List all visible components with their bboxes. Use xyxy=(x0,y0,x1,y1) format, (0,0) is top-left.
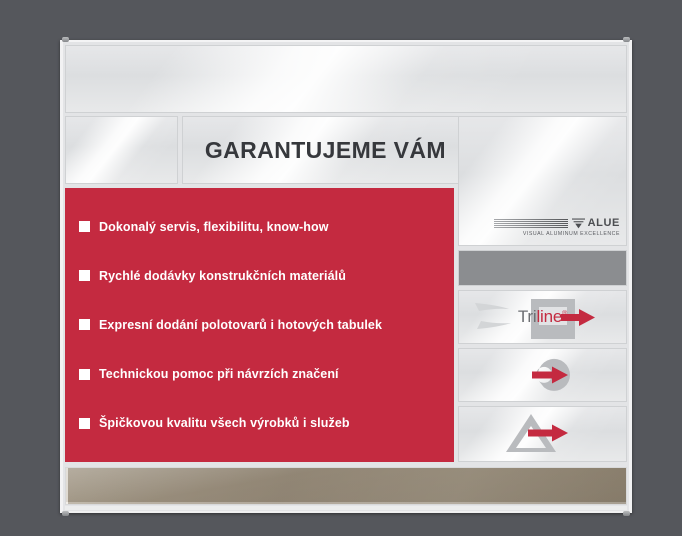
header-blank-panel xyxy=(65,45,627,113)
triangle-arrow-logo xyxy=(459,407,626,461)
page-title: GARANTUJEME VÁM xyxy=(205,137,458,164)
square-bullet-icon xyxy=(79,319,90,330)
list-item-label: Špičkovou kvalitu všech výrobků i služeb xyxy=(99,416,350,430)
list-item: Rychlé dodávky konstrukčních materiálů xyxy=(79,269,446,283)
square-bullet-icon xyxy=(79,369,90,380)
list-item: Expresní dodání polotovarů i hotových ta… xyxy=(79,318,446,332)
list-item: Špičkovou kvalitu všech výrobků i služeb xyxy=(79,416,446,430)
bullet-list: Dokonalý servis, flexibilitu, know-how R… xyxy=(79,188,446,462)
triangle-arrow-logo-graphic-icon xyxy=(498,409,588,459)
brand-wordmark-row: ALUE xyxy=(494,217,620,229)
brand-tagline: VISUAL ALUMINUM EXCELLENCE xyxy=(494,231,620,237)
red-feature-panel: Dokonalý servis, flexibilitu, know-how R… xyxy=(65,188,454,462)
brand-wordmark: ALUE xyxy=(588,218,620,229)
triline-logo: Triline® xyxy=(459,291,626,343)
title-panel: GARANTUJEME VÁM xyxy=(182,116,459,184)
list-item-label: Rychlé dodávky konstrukčních materiálů xyxy=(99,269,346,283)
brand-stripes-icon xyxy=(494,219,570,228)
sidebar: ALUE VISUAL ALUMINUM EXCELLENCE xyxy=(458,116,627,462)
corner-bolt-bottom-right xyxy=(623,511,630,516)
list-item-label: Dokonalý servis, flexibilitu, know-how xyxy=(99,220,329,234)
title-left-blank-box xyxy=(65,116,178,184)
value-brand-logo: ALUE VISUAL ALUMINUM EXCELLENCE xyxy=(494,217,620,237)
signage-board: GARANTUJEME VÁM Dokonalý servis, flexibi… xyxy=(60,40,632,513)
gray-divider-bar xyxy=(458,250,627,286)
list-item-label: Technickou pomoc při návrzích značení xyxy=(99,367,339,381)
list-item: Technickou pomoc při návrzích značení xyxy=(79,367,446,381)
corner-bolt-top-left xyxy=(62,37,69,42)
brand-panel: ALUE VISUAL ALUMINUM EXCELLENCE xyxy=(458,116,627,246)
square-bullet-icon xyxy=(79,270,90,281)
triline-wordmark: Triline® xyxy=(518,307,567,327)
square-bullet-icon xyxy=(79,221,90,232)
logo-cell-triangle-arrow xyxy=(458,406,627,462)
list-item-label: Expresní dodání polotovarů i hotových ta… xyxy=(99,318,382,332)
logo-cell-triline: Triline® xyxy=(458,290,627,344)
logo-cell-c-arrow xyxy=(458,348,627,402)
corner-bolt-top-right xyxy=(623,37,630,42)
square-bullet-icon xyxy=(79,418,90,429)
corner-bolt-bottom-left xyxy=(62,511,69,516)
c-arrow-logo-graphic-icon xyxy=(498,351,588,399)
bottom-rail xyxy=(65,506,627,510)
woven-aluminium-texture-strip xyxy=(65,467,627,505)
c-arrow-logo xyxy=(459,349,626,401)
brand-v-glyph-icon xyxy=(572,217,586,229)
list-item: Dokonalý servis, flexibilitu, know-how xyxy=(79,220,446,234)
